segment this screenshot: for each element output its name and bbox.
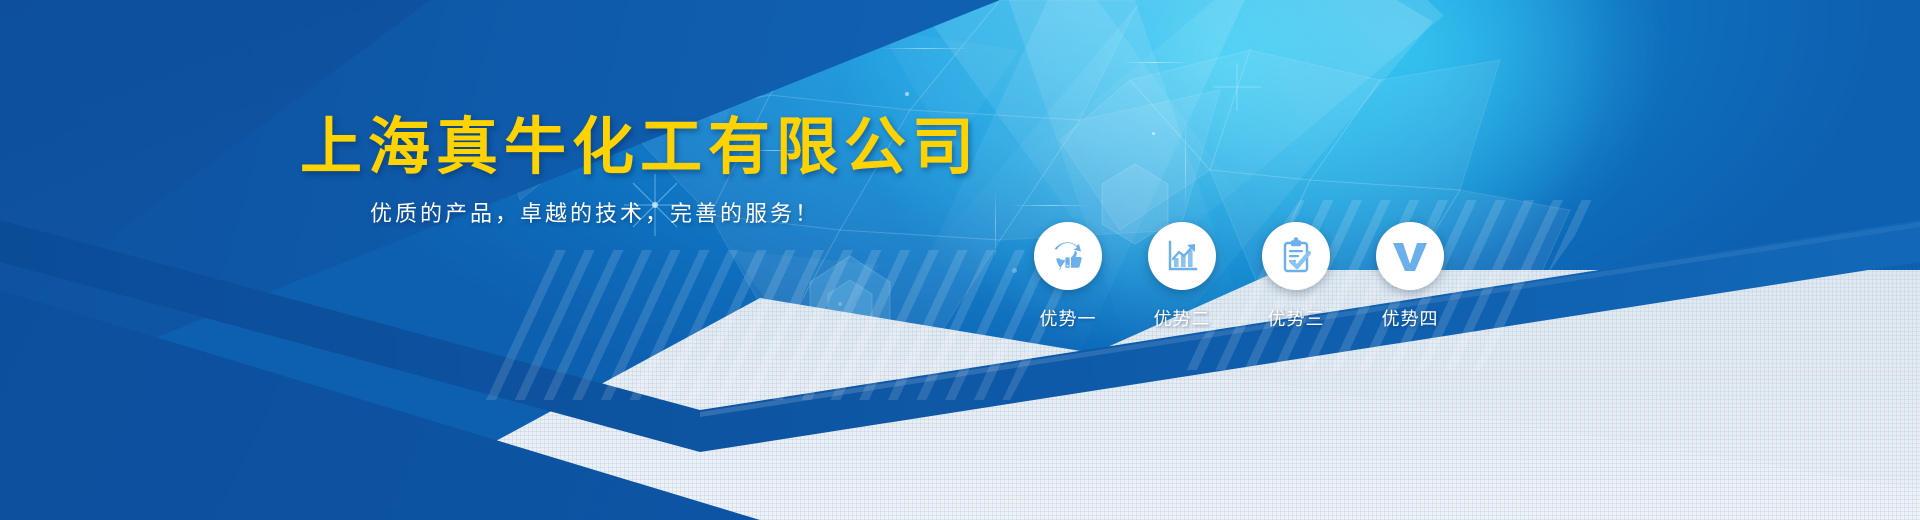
accent-line — [1120, 62, 1190, 63]
accent-line — [1185, 120, 1186, 210]
advantage-item-1[interactable]: 优势一 — [1030, 222, 1106, 331]
accent-line — [880, 48, 970, 49]
bar-chart-growth-icon — [1163, 237, 1201, 275]
advantage-label: 优势四 — [1382, 305, 1439, 331]
accent-line — [995, 190, 996, 260]
advantage-list: 优势一 — [1030, 222, 1448, 331]
advantage-label: 优势一 — [1040, 305, 1097, 331]
accent-line — [1010, 205, 1090, 206]
clipboard-check-icon — [1277, 237, 1315, 275]
sparkle-dot — [1152, 132, 1155, 135]
advantage-icon-circle — [1034, 222, 1102, 290]
advantage-icon-circle — [1262, 222, 1330, 290]
company-hero-banner: 上海真牛化工有限公司 优质的产品，卓越的技术，完善的服务！ — [0, 0, 1920, 520]
slogan-text: 优质的产品，卓越的技术，完善的服务！ — [370, 196, 820, 228]
advantage-item-4[interactable]: 优势四 — [1372, 222, 1448, 331]
thumbs-up-refresh-icon — [1048, 236, 1088, 276]
advantage-item-3[interactable]: 优势三 — [1258, 222, 1334, 331]
advantage-icon-circle — [1148, 222, 1216, 290]
advantage-item-2[interactable]: 优势二 — [1144, 222, 1220, 331]
v-check-icon — [1389, 235, 1431, 277]
hatch-stripes — [470, 250, 1090, 400]
advantage-label: 优势二 — [1154, 305, 1211, 331]
star-sparkle-icon — [1210, 60, 1264, 114]
advantage-icon-circle — [1376, 222, 1444, 290]
advantage-label: 优势三 — [1268, 305, 1325, 331]
page-title: 上海真牛化工有限公司 — [300, 96, 980, 186]
